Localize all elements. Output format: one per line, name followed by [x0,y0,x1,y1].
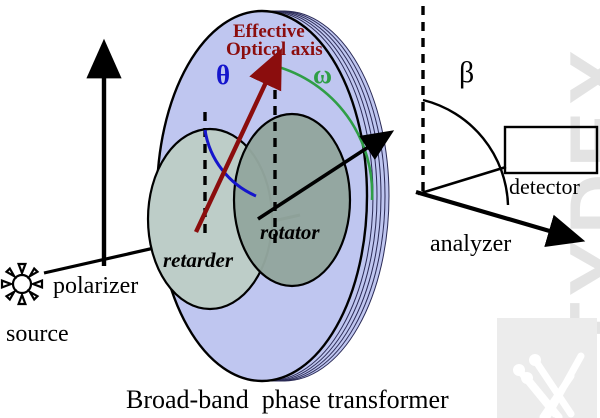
omega-label: ω [313,62,332,88]
source-sun-icon [2,264,42,304]
rotator-label: rotator [260,222,320,243]
optical-axis-title-line2: Optical axis [226,40,323,59]
source-label: source [6,322,69,346]
theta-label: θ [216,62,230,89]
detector-label: detector [509,176,580,198]
analyzer-axis-line [418,167,506,194]
rotator-element [234,114,350,286]
retarder-label: retarder [163,250,233,271]
beta-label: β [459,58,474,88]
diagram-canvas: TYDEX [0,0,600,418]
detector-box [505,127,597,173]
optics-schematic [0,0,600,418]
polarizer-label: polarizer [53,274,138,298]
analyzer-label: analyzer [430,232,511,256]
figure-caption: Broad-band phase transformer [126,387,449,413]
